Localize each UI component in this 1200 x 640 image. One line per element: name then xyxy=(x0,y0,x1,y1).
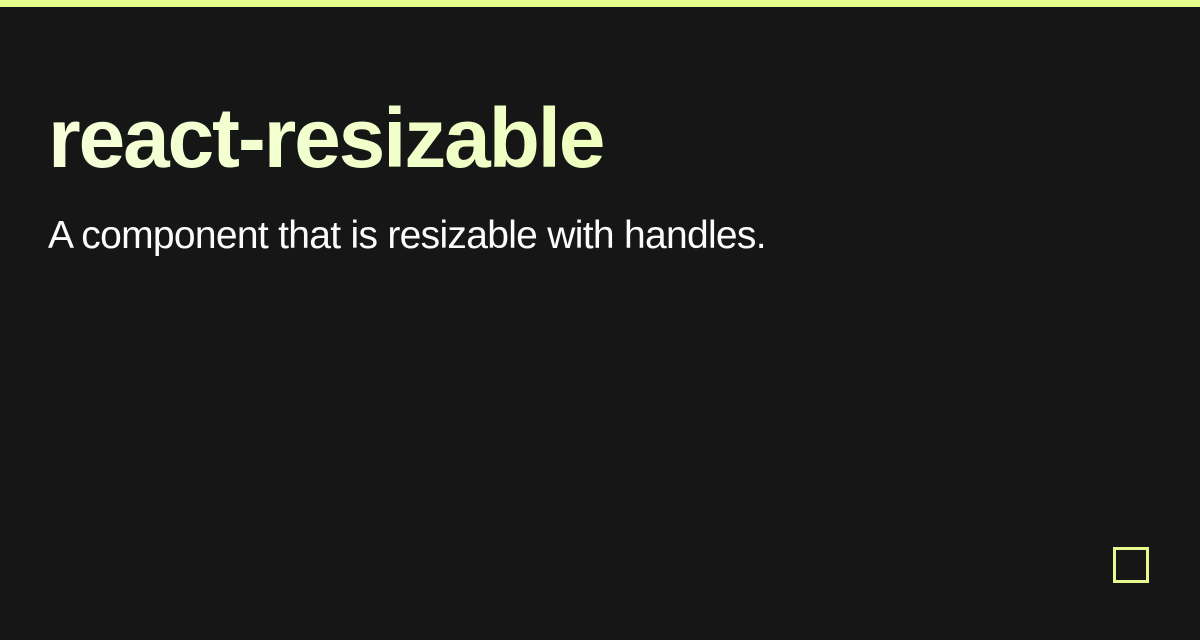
top-accent-bar xyxy=(0,0,1200,7)
open-graph-card: react-resizable A component that is resi… xyxy=(0,0,1200,640)
page-description: A component that is resizable with handl… xyxy=(48,212,1108,260)
card-content: react-resizable A component that is resi… xyxy=(48,96,1108,260)
page-title: react-resizable xyxy=(48,96,1108,180)
square-outline-icon xyxy=(1113,547,1149,583)
